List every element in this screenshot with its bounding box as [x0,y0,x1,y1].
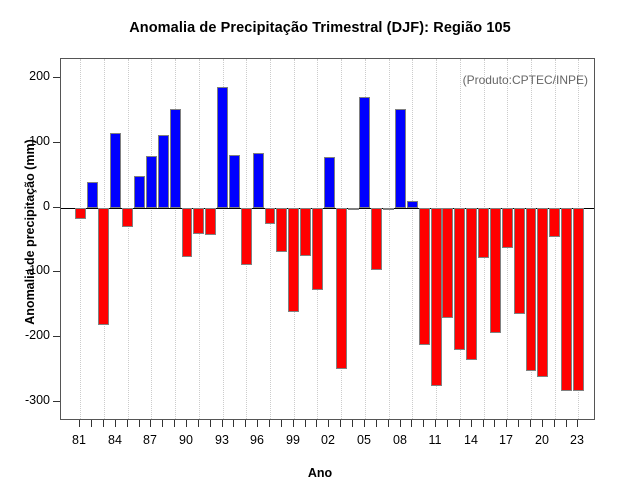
x-tick-mark [293,420,294,427]
x-tick-mark [530,420,531,427]
bar-99 [288,208,299,312]
bar-14 [466,208,477,361]
bar-22 [561,208,572,391]
bar-05 [359,97,370,208]
x-tick-mark [103,420,104,427]
x-tick-mark [139,420,140,427]
bar-90 [182,208,193,258]
x-tick-label: 90 [171,433,201,447]
bar-08 [395,109,406,208]
bar-12 [442,208,453,318]
grid-line-vertical [270,59,272,419]
bar-17 [502,208,513,249]
bar-91 [193,208,204,235]
x-tick-label: 17 [491,433,521,447]
grid-line-vertical [128,59,130,419]
x-tick-label: 23 [562,433,592,447]
y-tick-mark [53,401,60,402]
x-tick-label: 81 [64,433,94,447]
x-tick-mark [435,420,436,427]
bar-19 [526,208,537,372]
x-tick-mark [316,420,317,427]
x-tick-label: 96 [242,433,272,447]
x-tick-label: 11 [420,433,450,447]
grid-line-vertical [80,59,82,419]
x-tick-mark [245,420,246,427]
grid-line-vertical [151,59,153,419]
x-tick-label: 84 [100,433,130,447]
x-tick-mark [376,420,377,427]
x-tick-mark [364,420,365,427]
chart-title: Anomalia de Precipitação Trimestral (DJF… [0,20,640,36]
bar-94 [229,155,240,208]
bar-02 [324,157,335,208]
x-tick-mark [281,420,282,427]
y-tick-label: -100 [0,263,50,277]
bar-89 [170,109,181,208]
x-tick-mark [506,420,507,427]
x-tick-label: 87 [135,433,165,447]
bar-98 [276,208,287,252]
x-tick-label: 05 [349,433,379,447]
x-tick-mark [186,420,187,427]
y-tick-mark [53,207,60,208]
x-tick-mark [222,420,223,427]
x-tick-mark [518,420,519,427]
bar-92 [205,208,216,235]
x-tick-mark [577,420,578,427]
x-tick-mark [233,420,234,427]
x-tick-mark [554,420,555,427]
x-tick-mark [483,420,484,427]
x-tick-mark [127,420,128,427]
grid-line-vertical [555,59,557,419]
bar-96 [253,153,264,207]
bar-21 [549,208,560,237]
x-tick-label: 20 [527,433,557,447]
x-tick-mark [447,420,448,427]
bar-03 [336,208,347,370]
x-tick-mark [115,420,116,427]
bar-15 [478,208,489,258]
y-tick-label: -300 [0,393,50,407]
bar-07 [383,208,394,210]
bar-01 [312,208,323,291]
plot-area: (Produto:CPTEC/INPE) [60,58,595,420]
bar-00 [300,208,311,256]
bar-95 [241,208,252,266]
y-tick-label: -200 [0,328,50,342]
bar-88 [158,135,169,208]
grid-line-vertical [389,59,391,419]
x-tick-mark [352,420,353,427]
bar-82 [87,182,98,207]
precipitation-anomaly-chart: Anomalia de Precipitação Trimestral (DJF… [0,0,640,500]
x-tick-label: 08 [385,433,415,447]
x-tick-mark [79,420,80,427]
x-tick-mark [210,420,211,427]
bar-09 [407,201,418,208]
x-tick-mark [411,420,412,427]
x-tick-mark [198,420,199,427]
y-tick-mark [53,271,60,272]
bar-84 [110,133,121,208]
grid-line-vertical [199,59,201,419]
bar-97 [265,208,276,224]
bar-85 [122,208,133,227]
bar-10 [419,208,430,346]
x-axis-label: Ano [0,466,640,480]
bar-87 [146,156,157,208]
grid-line-vertical [412,59,414,419]
bar-23 [573,208,584,391]
bar-06 [371,208,382,271]
y-tick-mark [53,142,60,143]
x-tick-mark [150,420,151,427]
source-annotation: (Produto:CPTEC/INPE) [463,73,588,87]
bar-93 [217,87,228,208]
x-tick-mark [566,420,567,427]
x-tick-mark [400,420,401,427]
x-tick-mark [494,420,495,427]
bar-04 [348,208,359,210]
y-tick-mark [53,77,60,78]
x-tick-mark [305,420,306,427]
x-tick-mark [257,420,258,427]
bar-13 [454,208,465,350]
y-tick-mark [53,336,60,337]
x-tick-mark [269,420,270,427]
x-tick-mark [471,420,472,427]
bar-86 [134,176,145,208]
bar-11 [431,208,442,386]
bar-16 [490,208,501,333]
x-tick-mark [542,420,543,427]
x-tick-label: 02 [313,433,343,447]
x-tick-mark [459,420,460,427]
y-tick-label: 200 [0,69,50,83]
x-tick-mark [388,420,389,427]
x-tick-mark [91,420,92,427]
bar-18 [514,208,525,315]
x-tick-mark [174,420,175,427]
x-tick-label: 14 [456,433,486,447]
x-tick-mark [423,420,424,427]
x-tick-label: 99 [278,433,308,447]
y-tick-label: 0 [0,199,50,213]
bar-81 [75,208,86,220]
bar-20 [537,208,548,377]
x-tick-label: 93 [207,433,237,447]
y-tick-label: 100 [0,134,50,148]
x-tick-mark [340,420,341,427]
x-tick-mark [328,420,329,427]
x-tick-mark [162,420,163,427]
bar-83 [98,208,109,325]
